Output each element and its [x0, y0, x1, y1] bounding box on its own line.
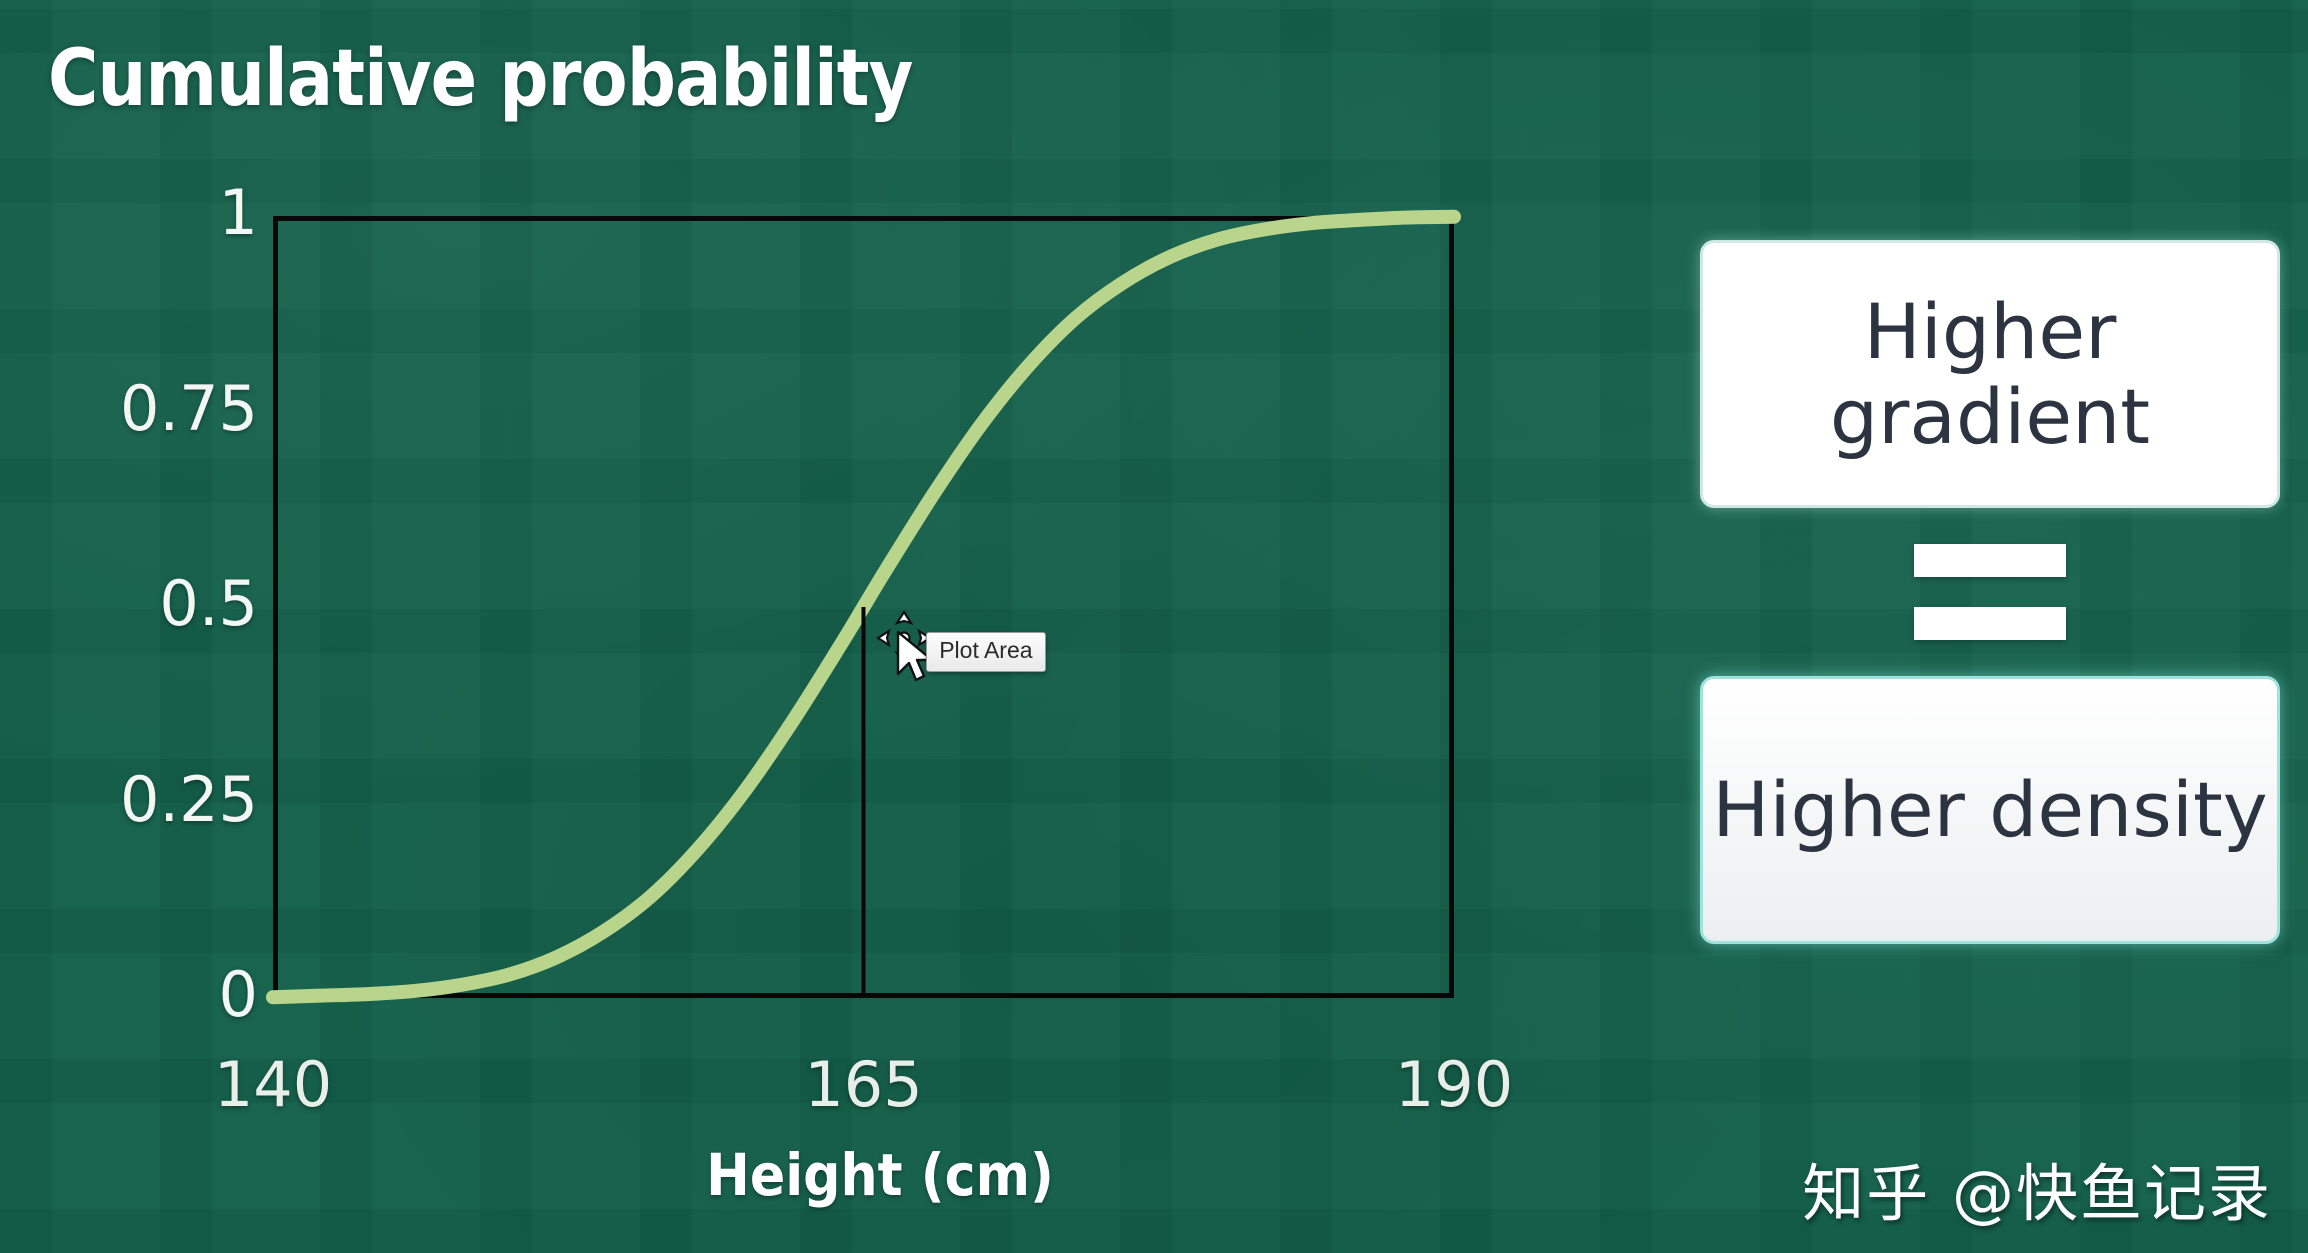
y-tick-label: 0.75 [18, 378, 258, 440]
y-tick-label: 1 [18, 182, 258, 244]
y-tick-label: 0.5 [18, 573, 258, 635]
y-tick-label: 0.25 [18, 769, 258, 831]
callout-stack: Higher gradient Higher density [1700, 240, 2280, 944]
equals-bar-bottom [1914, 607, 2066, 640]
y-tick-label: 0 [18, 964, 258, 1026]
x-axis-tick-labels: 140 165 190 [273, 1054, 1454, 1134]
x-tick-label: 190 [1395, 1054, 1513, 1116]
plot-svg [273, 216, 1454, 998]
chart-region: 1 0.75 0.5 0.25 0 140 165 190 Height (cm… [0, 0, 1560, 1253]
x-tick-label: 140 [214, 1054, 332, 1116]
x-tick-label: 165 [804, 1054, 922, 1116]
callout-higher-density: Higher density [1700, 676, 2280, 944]
callout-higher-gradient: Higher gradient [1700, 240, 2280, 508]
equals-bar-top [1914, 544, 2066, 577]
equals-sign-icon [1700, 508, 2280, 676]
slide-canvas: Cumulative probability 1 0.75 0.5 0.25 0… [0, 0, 2308, 1253]
x-axis-title: Height (cm) [706, 1146, 1054, 1204]
watermark: 知乎 @快鱼记录 [1802, 1163, 2272, 1225]
plot-area-tooltip: Plot Area [926, 632, 1045, 671]
